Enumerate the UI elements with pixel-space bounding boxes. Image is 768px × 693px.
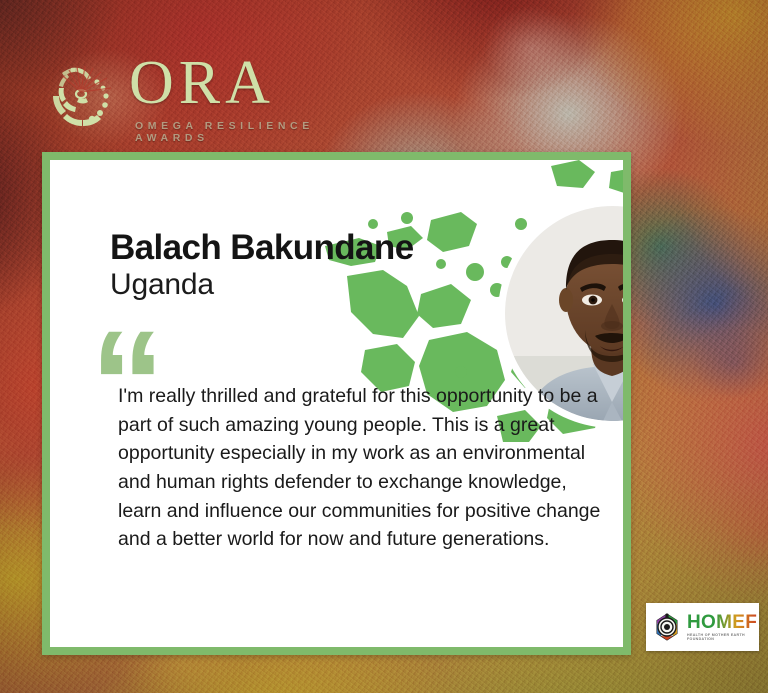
homef-text: HOMEF HEALTH OF MOTHER EARTH FOUNDATION — [687, 613, 757, 641]
homef-target-icon — [652, 612, 682, 642]
country-label: Uganda — [110, 270, 214, 300]
poster-canvas: ORA OMEGA RESILIENCE AWARDS — [0, 0, 768, 693]
homef-logo: HOMEF HEALTH OF MOTHER EARTH FOUNDATION — [646, 603, 759, 651]
ora-tagline: OMEGA RESILIENCE AWARDS — [135, 120, 345, 144]
spiral-nautilus-icon — [45, 58, 123, 134]
ora-wordmark: ORA — [129, 52, 275, 114]
homef-tagline: HEALTH OF MOTHER EARTH FOUNDATION — [687, 634, 757, 641]
profile-card: Balach Bakundane Uganda “ I'm really thr… — [42, 152, 631, 655]
homef-name: HOMEF — [687, 613, 757, 632]
quote-text: I'm really thrilled and grateful for thi… — [118, 382, 608, 554]
ora-logo: ORA OMEGA RESILIENCE AWARDS — [45, 52, 345, 144]
profile-card-inner: Balach Bakundane Uganda “ I'm really thr… — [50, 160, 623, 647]
page-title: Balach Bakundane — [110, 230, 414, 265]
